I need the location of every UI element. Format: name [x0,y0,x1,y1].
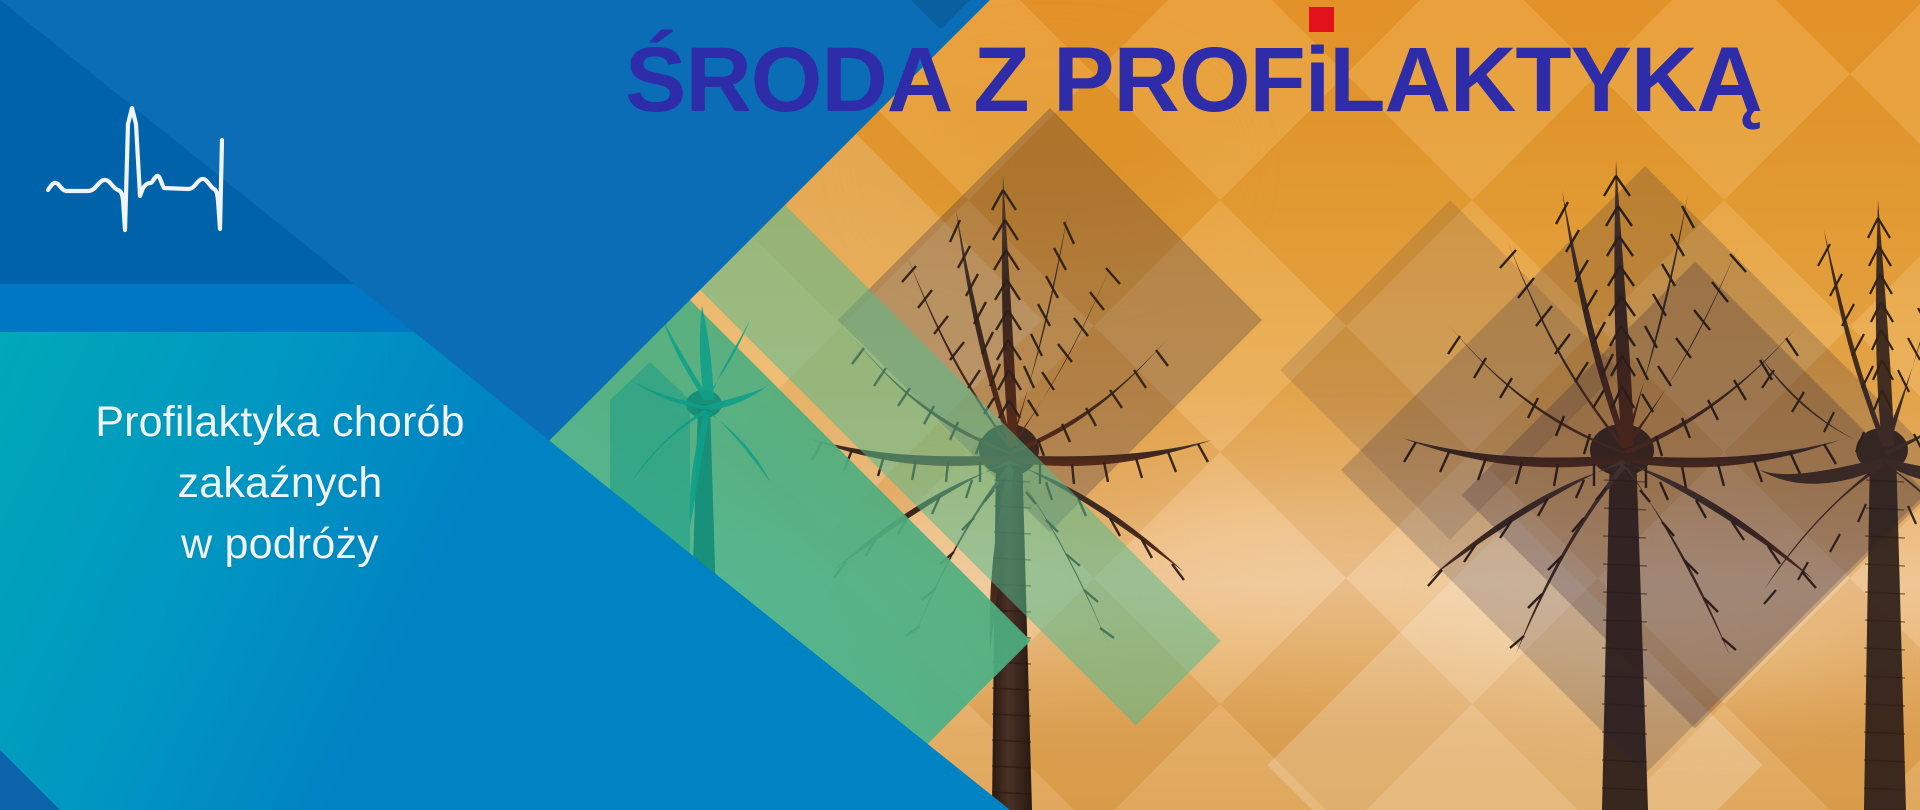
subtitle-line-1: Profilaktyka chorób [0,392,560,453]
title-part-after: LAKTYKĄ [1329,29,1762,131]
subtitle-line-2: zakaźnych [0,453,560,514]
title-letter-i: i [1305,28,1330,133]
bottom-left-corner-accent [0,750,60,810]
title-part-before: ŚRODA Z PROF [625,29,1305,131]
page-title: ŚRODA Z PROFiLAKTYKĄ [625,28,1762,133]
red-square-dot-icon [1309,7,1334,32]
ecg-heartbeat-icon [44,84,224,234]
title-i-glyph: i [1305,29,1330,131]
banner-subtitle: Profilaktyka chorób zakaźnych w podróży [0,392,560,575]
subtitle-line-3: w podróży [0,514,560,575]
promo-banner: ŚRODA Z PROFiLAKTYKĄ Profilaktyka chorób… [0,0,1920,810]
